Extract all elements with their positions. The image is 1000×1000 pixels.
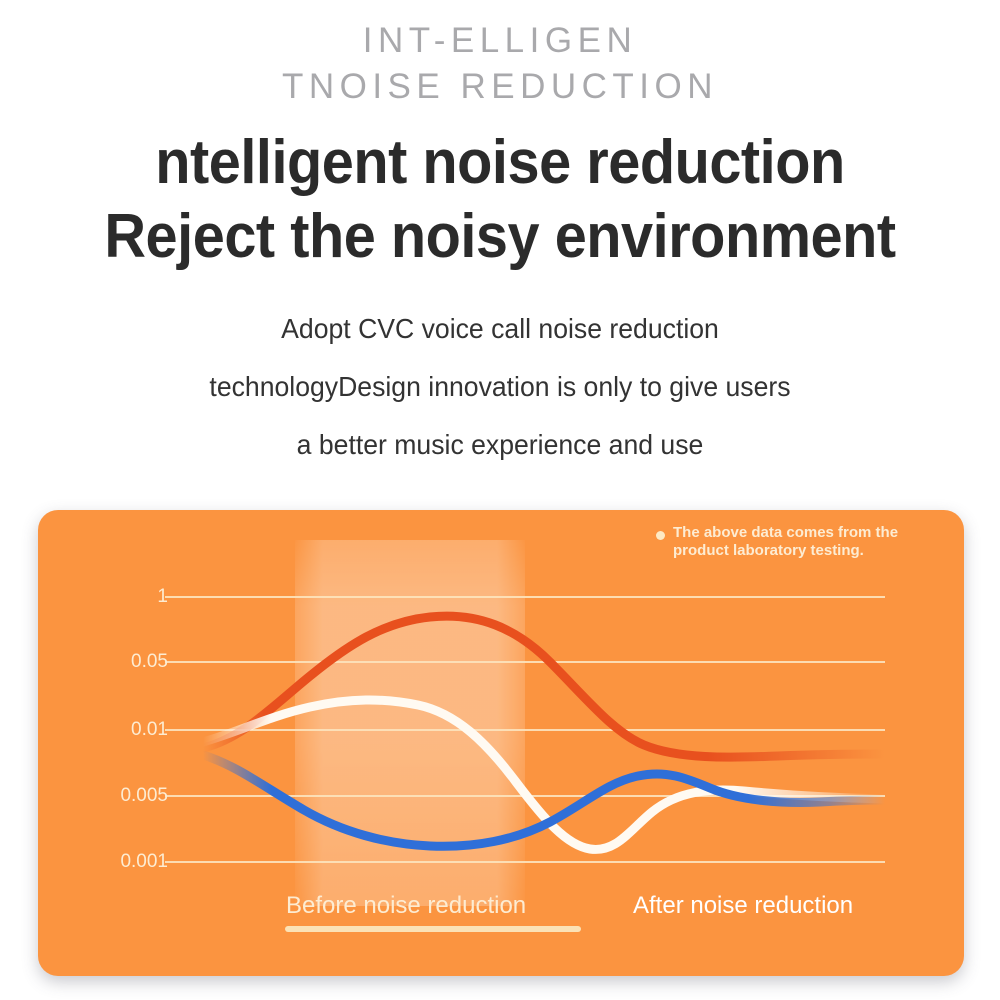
- subtitle-text: Adopt CVC voice call noise reduction tec…: [0, 300, 1000, 474]
- headline-line-1: ntelligent noise reduction: [35, 126, 965, 200]
- x-tick-after-noise-reduction: After noise reduction: [633, 892, 853, 920]
- chart-card: The above data comes from the product la…: [38, 510, 964, 976]
- eyebrow-line-1: INT-ELLIGEN: [0, 18, 1000, 64]
- subtitle-line-3: a better music experience and use: [25, 416, 975, 474]
- hero-section: INT-ELLIGEN TNOISE REDUCTION ntelligent …: [0, 0, 1000, 474]
- page-title: ntelligent noise reduction Reject the no…: [0, 126, 1000, 274]
- y-tick-0-05: 0.05: [131, 651, 168, 673]
- y-tick-0-01: 0.01: [131, 719, 168, 741]
- eyebrow-text: INT-ELLIGEN TNOISE REDUCTION: [0, 18, 1000, 110]
- y-tick-0-001: 0.001: [120, 851, 168, 873]
- y-tick-0-005: 0.005: [120, 785, 168, 807]
- subtitle-line-2: technologyDesign innovation is only to g…: [25, 358, 975, 416]
- y-tick-1: 1: [157, 586, 168, 608]
- x-tick-before-underline: [285, 926, 581, 932]
- subtitle-line-1: Adopt CVC voice call noise reduction: [25, 300, 975, 358]
- x-axis-labels: Before noise reduction After noise reduc…: [38, 892, 964, 952]
- x-tick-before-noise-reduction: Before noise reduction: [286, 892, 526, 920]
- eyebrow-line-2: TNOISE REDUCTION: [0, 64, 1000, 110]
- headline-line-2: Reject the noisy environment: [35, 200, 965, 274]
